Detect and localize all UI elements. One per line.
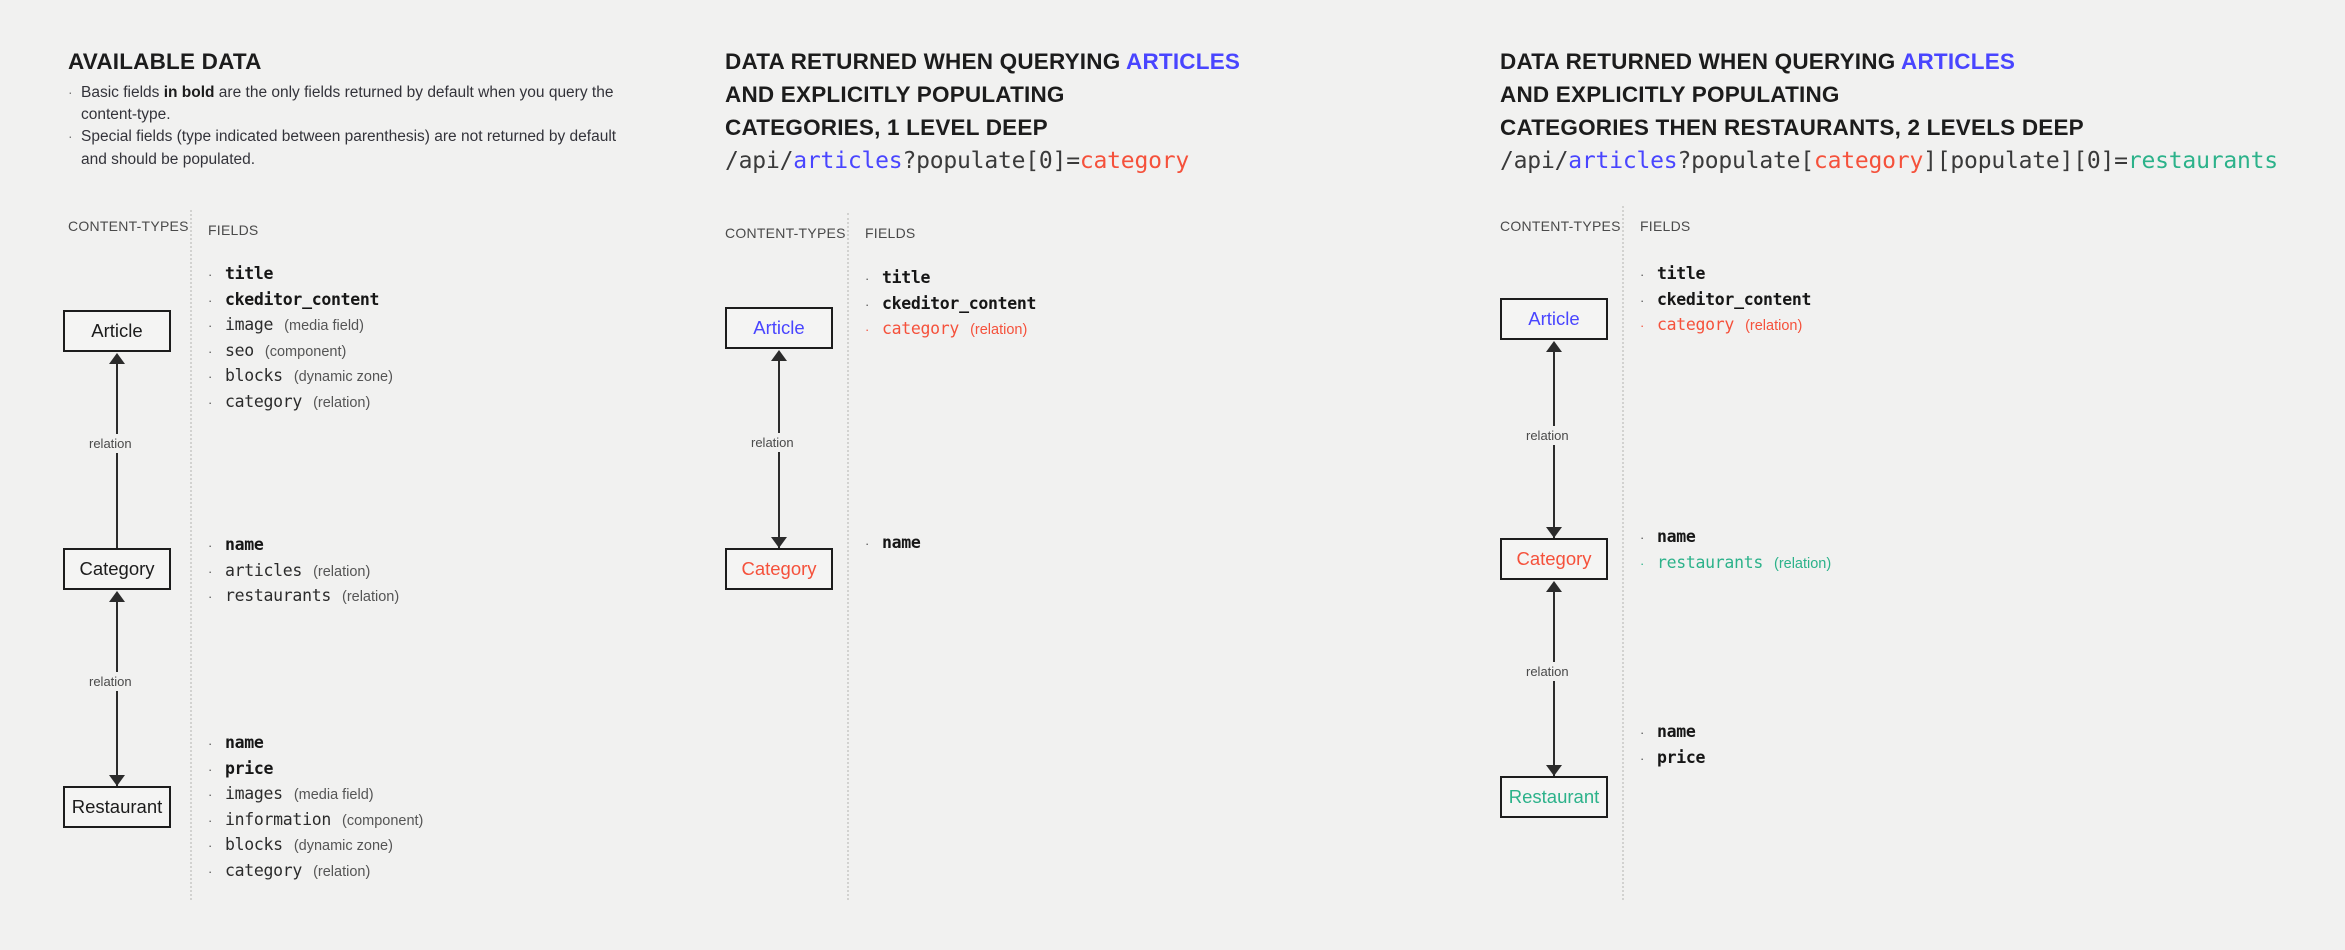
bullet-icon: · <box>1640 263 1657 288</box>
column-divider <box>190 210 192 900</box>
arrowhead-down-icon <box>771 537 787 548</box>
heading-segment: DATA RETURNED WHEN QUERYING <box>1500 49 1901 74</box>
field-name: name <box>1657 525 1696 550</box>
field-row: ·image(media field) <box>208 313 393 339</box>
field-name: title <box>1657 262 1705 287</box>
field-type: (dynamic zone) <box>294 365 393 390</box>
field-row: ·images(media field) <box>208 782 423 808</box>
api-segment: ?populate[0]= <box>902 148 1079 174</box>
bullet-icon: · <box>865 318 882 343</box>
bullet-icon: · <box>1640 747 1657 772</box>
field-name: price <box>1657 746 1705 771</box>
heading-segment: CATEGORIES, 1 LEVEL DEEP <box>725 115 1048 140</box>
field-name: title <box>882 266 930 291</box>
bullet-icon <box>68 149 81 171</box>
heading-segment: AND EXPLICITLY POPULATING <box>725 82 1065 107</box>
field-name: ckeditor_content <box>882 292 1036 317</box>
arrowhead-up-icon <box>1546 341 1562 352</box>
field-name: ckeditor_content <box>1657 288 1811 313</box>
field-type: (relation) <box>313 391 370 416</box>
relation-label: relation <box>1521 662 1574 681</box>
entity-label: Category <box>741 558 816 580</box>
entity-box-article[interactable]: Article <box>725 307 833 349</box>
column-heading: DATA RETURNED WHEN QUERYING ARTICLESAND … <box>1500 45 2084 144</box>
field-list-article: ·title·ckeditor_content·image(media fiel… <box>208 262 393 415</box>
entity-label: Category <box>79 558 154 580</box>
diagram-canvas: AVAILABLE DATA ·Basic fields in bold are… <box>0 0 2345 950</box>
field-type: (relation) <box>313 860 370 885</box>
bullet-icon: · <box>208 560 225 585</box>
bullet-icon: · <box>865 267 882 292</box>
field-row: ·title <box>208 262 393 288</box>
column-heading: DATA RETURNED WHEN QUERYING ARTICLESAND … <box>725 45 1240 144</box>
api-path: /api/articles?populate[category][populat… <box>1500 148 2278 174</box>
relation-label: relation <box>84 434 137 453</box>
entity-box-article[interactable]: Article <box>63 310 171 352</box>
field-name: title <box>225 262 273 287</box>
field-list-restaurant: ·name·price <box>1640 720 1705 771</box>
caption-fields: FIELDS <box>1640 218 1691 234</box>
heading-segment: ARTICLES <box>1126 49 1240 74</box>
field-list-category: ·name·restaurants(relation) <box>1640 525 1831 576</box>
field-row: ·category(relation) <box>865 317 1036 343</box>
field-list-category: ·name <box>865 531 921 557</box>
heading-line: AVAILABLE DATA <box>68 45 262 78</box>
field-row: ·information(component) <box>208 808 423 834</box>
intro-text: and should be populated. <box>81 149 668 171</box>
field-type: (component) <box>265 340 346 365</box>
bullet-icon: · <box>1640 552 1657 577</box>
bullet-icon: · <box>1640 289 1657 314</box>
arrowhead-down-icon <box>1546 765 1562 776</box>
column-divider <box>847 213 849 900</box>
entity-label: Category <box>1516 548 1591 570</box>
caption-fields: FIELDS <box>865 225 916 241</box>
entity-label: Article <box>1528 308 1579 330</box>
field-row: ·price <box>208 757 423 783</box>
bullet-icon: · <box>68 82 81 125</box>
field-row: ·category(relation) <box>1640 313 1811 339</box>
field-row: ·restaurants(relation) <box>208 584 399 610</box>
field-row: ·title <box>865 266 1036 292</box>
field-name: category <box>225 390 302 415</box>
field-row: ·name <box>1640 525 1831 551</box>
field-name: name <box>225 731 264 756</box>
arrowhead-up-icon <box>109 591 125 602</box>
field-row: ·title <box>1640 262 1811 288</box>
column-divider <box>1622 206 1624 900</box>
bullet-icon: · <box>1640 314 1657 339</box>
entity-label: Article <box>91 320 142 342</box>
entity-label: Article <box>753 317 804 339</box>
field-name: blocks <box>225 833 283 858</box>
entity-box-article[interactable]: Article <box>1500 298 1608 340</box>
bullet-icon: · <box>208 809 225 834</box>
field-name: blocks <box>225 364 283 389</box>
caption-content-types: CONTENT-TYPES <box>725 225 846 241</box>
intro-text: Special fields (type indicated between p… <box>81 126 668 148</box>
field-type: (media field) <box>294 783 374 808</box>
heading-segment: DATA RETURNED WHEN QUERYING <box>725 49 1126 74</box>
bullet-icon: · <box>208 834 225 859</box>
bullet-icon: · <box>1640 721 1657 746</box>
field-name: image <box>225 313 273 338</box>
bullet-icon: · <box>208 289 225 314</box>
api-segment: /api/ <box>725 148 793 174</box>
field-row: ·name <box>208 533 399 559</box>
heading-segment: CATEGORIES THEN RESTAURANTS, 2 LEVELS DE… <box>1500 115 2084 140</box>
field-name: category <box>882 317 959 342</box>
field-row: ·ckeditor_content <box>1640 288 1811 314</box>
arrowhead-up-icon <box>1546 581 1562 592</box>
bullet-icon: · <box>1640 526 1657 551</box>
relation-arrow-line <box>1553 591 1555 776</box>
api-segment: articles <box>793 148 902 174</box>
relation-arrow-line <box>778 360 780 548</box>
heading-line: CATEGORIES, 1 LEVEL DEEP <box>725 111 1240 144</box>
field-list-restaurant: ·name·price·images(media field)·informat… <box>208 731 423 884</box>
field-name: articles <box>225 559 302 584</box>
relation-label: relation <box>1521 426 1574 445</box>
caption-fields: FIELDS <box>208 222 259 238</box>
heading-line: AND EXPLICITLY POPULATING <box>725 78 1240 111</box>
field-list-article: ·title·ckeditor_content·category(relatio… <box>865 266 1036 343</box>
field-row: ·category(relation) <box>208 390 393 416</box>
field-row: ·name <box>208 731 423 757</box>
field-row: ·ckeditor_content <box>865 292 1036 318</box>
field-type: (relation) <box>1745 314 1802 339</box>
entity-label: Restaurant <box>1509 786 1600 808</box>
field-row: ·name <box>1640 720 1705 746</box>
field-type: (component) <box>342 809 423 834</box>
field-row: ·blocks(dynamic zone) <box>208 364 393 390</box>
bullet-icon: · <box>208 534 225 559</box>
caption-content-types: CONTENT-TYPES <box>68 218 189 234</box>
field-name: information <box>225 808 331 833</box>
intro-bullet: ·Special fields (type indicated between … <box>68 126 668 148</box>
api-segment: category <box>1814 148 1923 174</box>
field-name: name <box>225 533 264 558</box>
field-row: ·ckeditor_content <box>208 288 393 314</box>
column-populate-1-level: DATA RETURNED WHEN QUERYING ARTICLESAND … <box>725 0 1495 950</box>
field-row: ·blocks(dynamic zone) <box>208 833 423 859</box>
api-segment: ][populate][0]= <box>1923 148 2128 174</box>
field-name: name <box>882 531 921 556</box>
api-segment: /api/ <box>1500 148 1568 174</box>
field-row: ·articles(relation) <box>208 559 399 585</box>
column-populate-2-levels: DATA RETURNED WHEN QUERYING ARTICLESAND … <box>1490 0 2345 950</box>
field-row: ·restaurants(relation) <box>1640 551 1831 577</box>
heading-line: AND EXPLICITLY POPULATING <box>1500 78 2084 111</box>
api-segment: category <box>1080 148 1189 174</box>
arrowhead-down-icon <box>1546 527 1562 538</box>
field-row: ·seo(component) <box>208 339 393 365</box>
entity-box-restaurant[interactable]: Restaurant <box>63 786 171 828</box>
field-name: category <box>225 859 302 884</box>
field-list-article: ·title·ckeditor_content·category(relatio… <box>1640 262 1811 339</box>
bullet-icon: · <box>208 783 225 808</box>
bullet-icon: · <box>208 860 225 885</box>
bullet-icon: · <box>68 126 81 148</box>
intro-bullets: ·Basic fields in bold are the only field… <box>68 82 668 171</box>
entity-label: Restaurant <box>72 796 163 818</box>
bullet-icon: · <box>208 314 225 339</box>
api-segment: articles <box>1568 148 1677 174</box>
field-row: ·price <box>1640 746 1705 772</box>
field-type: (relation) <box>970 318 1027 343</box>
entity-box-restaurant[interactable]: Restaurant <box>1500 776 1608 818</box>
arrowhead-up-icon <box>109 353 125 364</box>
heading-segment: AND EXPLICITLY POPULATING <box>1500 82 1840 107</box>
relation-arrow-line <box>116 363 118 548</box>
bullet-icon: · <box>208 340 225 365</box>
caption-content-types: CONTENT-TYPES <box>1500 218 1621 234</box>
field-name: images <box>225 782 283 807</box>
bullet-icon: · <box>208 585 225 610</box>
intro-text: Basic fields in bold are the only fields… <box>81 82 668 125</box>
intro-bullet: ·Basic fields in bold are the only field… <box>68 82 668 125</box>
bullet-icon: · <box>865 532 882 557</box>
field-type: (relation) <box>1774 552 1831 577</box>
entity-box-category[interactable]: Category <box>63 548 171 590</box>
field-name: restaurants <box>1657 551 1763 576</box>
intro-bullet: and should be populated. <box>68 149 668 171</box>
field-type: (relation) <box>342 585 399 610</box>
bullet-icon: · <box>208 732 225 757</box>
api-path: /api/articles?populate[0]=category <box>725 148 1189 174</box>
heading-segment: ARTICLES <box>1901 49 2015 74</box>
field-name: ckeditor_content <box>225 288 379 313</box>
field-type: (relation) <box>313 560 370 585</box>
field-type: (media field) <box>284 314 364 339</box>
field-list-category: ·name·articles(relation)·restaurants(rel… <box>208 533 399 610</box>
field-type: (dynamic zone) <box>294 834 393 859</box>
field-name: name <box>1657 720 1696 745</box>
api-segment: ?populate[ <box>1677 148 1813 174</box>
bullet-icon: · <box>865 293 882 318</box>
api-segment: restaurants <box>2128 148 2278 174</box>
heading-line: DATA RETURNED WHEN QUERYING ARTICLES <box>1500 45 2084 78</box>
arrowhead-up-icon <box>771 350 787 361</box>
field-name: price <box>225 757 273 782</box>
relation-arrow-line <box>116 601 118 786</box>
column-heading: AVAILABLE DATA <box>68 45 262 78</box>
field-name: restaurants <box>225 584 331 609</box>
entity-box-category[interactable]: Category <box>725 548 833 590</box>
entity-box-category[interactable]: Category <box>1500 538 1608 580</box>
field-name: category <box>1657 313 1734 338</box>
bullet-icon: · <box>208 263 225 288</box>
heading-segment: AVAILABLE DATA <box>68 49 262 74</box>
bullet-icon: · <box>208 391 225 416</box>
field-row: ·category(relation) <box>208 859 423 885</box>
bullet-icon: · <box>208 758 225 783</box>
heading-line: CATEGORIES THEN RESTAURANTS, 2 LEVELS DE… <box>1500 111 2084 144</box>
relation-label: relation <box>84 672 137 691</box>
field-name: seo <box>225 339 254 364</box>
heading-line: DATA RETURNED WHEN QUERYING ARTICLES <box>725 45 1240 78</box>
field-row: ·name <box>865 531 921 557</box>
bullet-icon: · <box>208 365 225 390</box>
relation-label: relation <box>746 433 799 452</box>
arrowhead-down-icon <box>109 775 125 786</box>
